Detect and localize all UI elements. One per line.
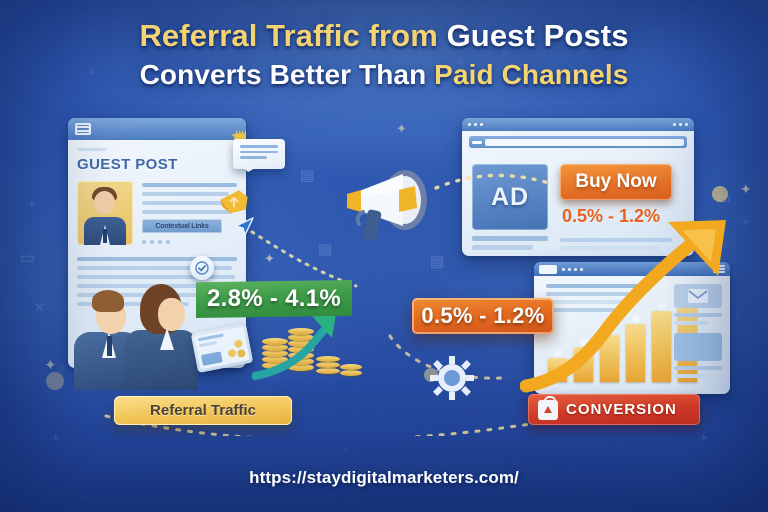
tablet-device <box>191 323 254 373</box>
bg-glyph: + <box>52 430 60 445</box>
footer-url[interactable]: https://staydigitalmarketers.com/ <box>0 468 768 488</box>
ad-conversion-rate: 0.5% - 1.2% <box>562 206 660 227</box>
paid-rate-badge: 0.5% - 1.2% <box>412 298 554 334</box>
bg-glyph: + <box>742 214 750 229</box>
window-dots <box>562 268 583 271</box>
megaphone-icon <box>341 156 437 254</box>
bg-dot <box>46 372 64 390</box>
bubble-line <box>240 151 278 154</box>
headline-line-2: Converts Better Than Paid Channels <box>0 56 768 94</box>
gear-icon <box>430 356 474 400</box>
conversion-label[interactable]: CONVERSION <box>528 394 700 425</box>
avatar <box>77 181 133 245</box>
window-dots-left <box>468 123 483 126</box>
bullet-dot <box>166 240 170 244</box>
infographic-canvas: + ▭ ✕ ▭ ✕ + ▤ ▤ ▤ + + ✦ ✦ ✦ ✦ ✦ ✦ Referr… <box>0 0 768 512</box>
headline-l2-part2: Paid Channels <box>434 59 628 90</box>
bg-glyph: ▤ <box>300 166 314 184</box>
headline: Referral Traffic from Guest Posts Conver… <box>0 16 768 94</box>
growth-arrow-icon <box>252 310 362 388</box>
sparkle-icon: ✦ <box>396 122 407 135</box>
guest-post-card-header: ★ ★ ★ ★ <box>68 118 246 140</box>
browser-title-bar <box>534 262 730 276</box>
person-man-tie <box>107 336 112 356</box>
decor-line <box>77 148 107 151</box>
headline-line-1: Referral Traffic from Guest Posts <box>0 16 768 56</box>
text-line <box>77 257 237 261</box>
bg-glyph: ✕ <box>34 300 45 316</box>
bubble-line <box>240 145 278 148</box>
mail-icon <box>687 288 709 304</box>
analytics-browser-card <box>534 262 730 394</box>
window-dots-right <box>673 123 688 126</box>
widget-box <box>674 284 722 308</box>
chart-bar-3 <box>600 335 619 382</box>
referral-traffic-label[interactable]: Referral Traffic <box>114 396 292 425</box>
browser-url-bar[interactable] <box>469 136 687 148</box>
conversion-label-text: CONVERSION <box>566 401 677 418</box>
guest-post-title: GUEST POST <box>77 156 237 173</box>
sparkle-icon: ✦ <box>740 182 752 196</box>
sparkle-icon: ✦ <box>44 358 57 373</box>
chart-bar-4 <box>626 324 645 382</box>
headline-l1-part1: Referral Traffic from <box>139 18 446 53</box>
bullet-dot <box>142 240 146 244</box>
bg-glyph: + <box>700 430 708 445</box>
connector-dotted-mega <box>434 168 554 198</box>
browser-title-bar <box>462 118 694 131</box>
contextual-links-chip[interactable]: Contextual Links <box>142 219 222 233</box>
chart-bar-1 <box>548 358 567 382</box>
bullet-dot <box>150 240 154 244</box>
person-man-hair <box>92 290 124 312</box>
chat-icon <box>539 265 557 274</box>
cursor-arrow-icon <box>231 215 257 241</box>
chart-bar-2 <box>574 347 593 382</box>
shopping-bag-icon <box>538 400 558 420</box>
tablet-screen <box>194 327 250 370</box>
speech-bubble-icon <box>233 139 285 169</box>
person-woman-suit <box>124 330 198 390</box>
referral-rate-badge: 2.8% - 4.1% <box>196 280 352 318</box>
text-line <box>142 201 222 205</box>
widget-box <box>674 333 722 361</box>
hamburger-icon[interactable] <box>713 265 725 274</box>
check-circle-icon <box>190 256 214 280</box>
bg-dot <box>712 186 728 202</box>
headline-l2-part1: Converts Better Than <box>140 59 435 90</box>
bullet-dot <box>158 240 162 244</box>
hamburger-icon[interactable] <box>75 123 91 135</box>
chart-bar-5 <box>652 311 671 382</box>
buy-now-button[interactable]: Buy Now <box>560 164 672 200</box>
bg-glyph: + <box>28 196 36 211</box>
bubble-line <box>240 156 267 159</box>
sidebar-widgets <box>674 284 722 378</box>
bg-glyph: ▤ <box>430 252 444 270</box>
bg-glyph: ▭ <box>20 248 35 268</box>
person-woman-face-front <box>158 298 185 331</box>
headline-l1-part2: Guest Posts <box>447 18 629 53</box>
bg-glyph: ✕ <box>706 246 717 262</box>
avatar-head <box>94 191 115 214</box>
avatar-tie <box>103 229 107 243</box>
